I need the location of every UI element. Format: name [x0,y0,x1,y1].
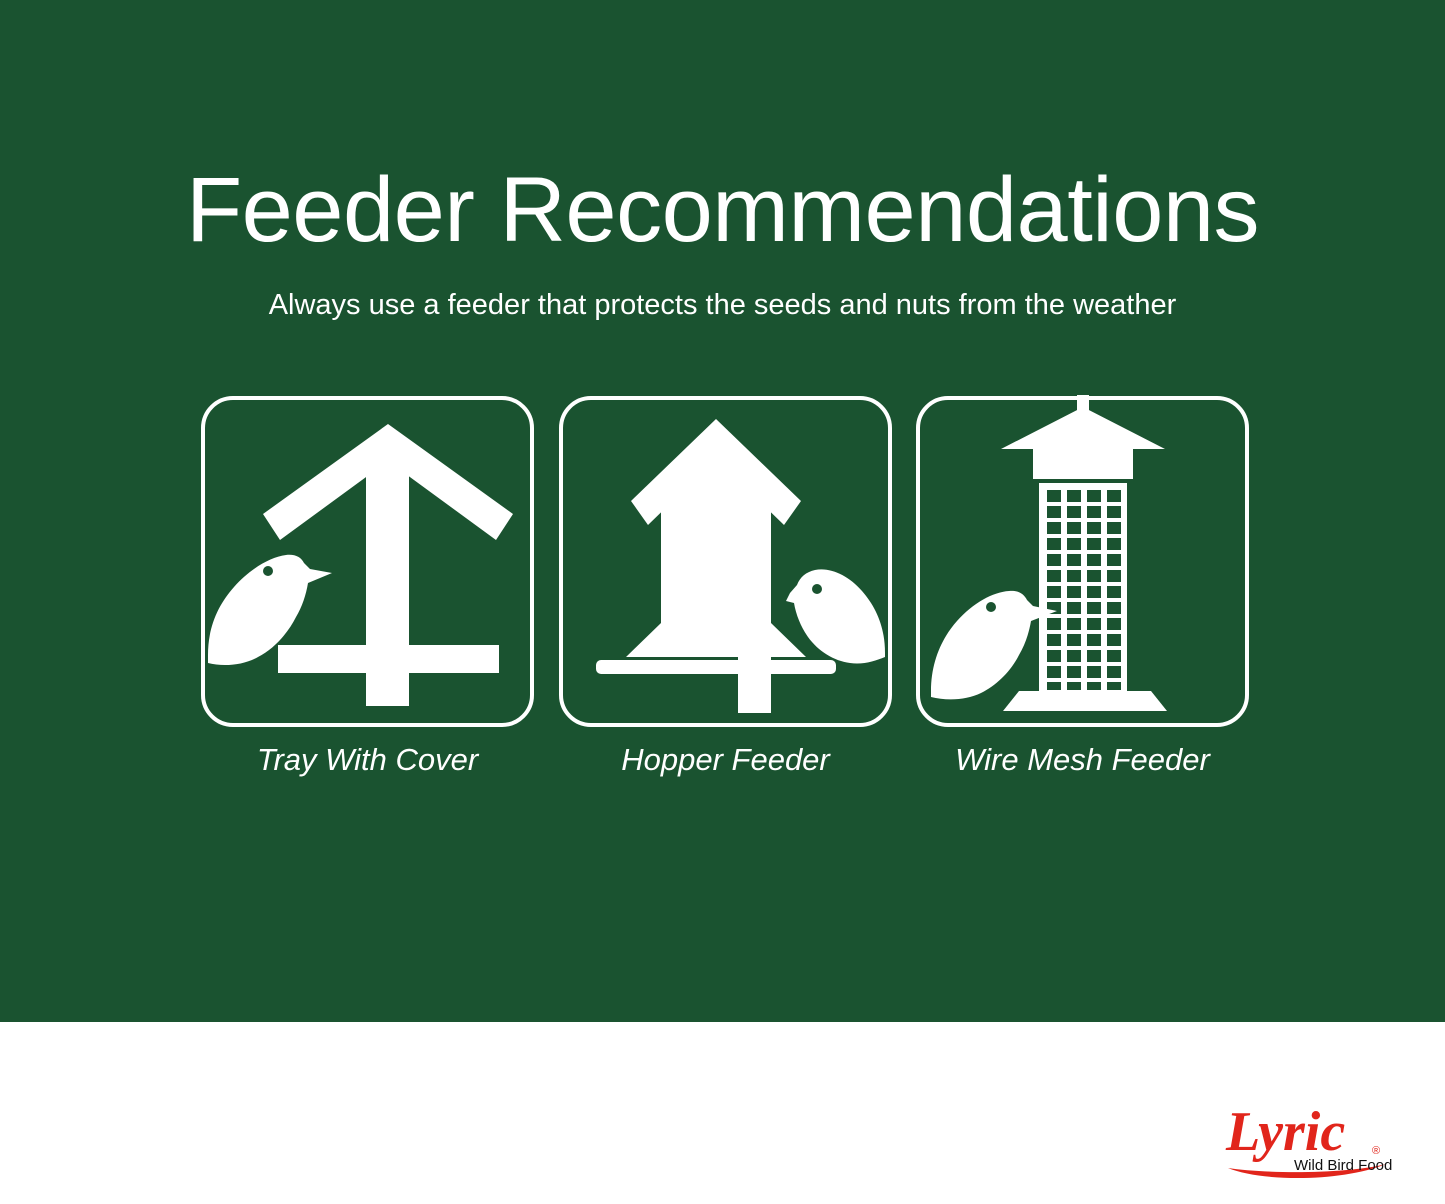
lyric-logo-trademark: ® [1372,1145,1380,1157]
feeder-label-wire-mesh-feeder: Wire Mesh Feeder [915,740,1250,780]
page-title: Feeder Recommendations [0,160,1445,260]
tray-with-cover-icon [200,395,535,728]
feeder-label-hopper-feeder: Hopper Feeder [558,740,893,780]
lyric-logo-tagline: Wild Bird Food [1294,1157,1392,1174]
wire-mesh-feeder-icon [915,395,1250,728]
lyric-logo-wordmark: Lyric [1225,1101,1345,1163]
lyric-logo: Lyric ® Wild Bird Food [1222,1098,1402,1184]
feeder-card-hopper-feeder: Hopper Feeder [558,395,893,790]
feeder-icon-row: Tray With Cover Hopper Feeder [200,395,1250,795]
feeder-label-tray-with-cover: Tray With Cover [200,740,535,780]
feeder-recommendations-page: Feeder Recommendations Always use a feed… [0,0,1445,1204]
feeder-card-tray-with-cover: Tray With Cover [200,395,535,790]
feeder-card-wire-mesh-feeder: Wire Mesh Feeder [915,395,1250,790]
page-subtitle: Always use a feeder that protects the se… [0,286,1445,324]
hopper-feeder-icon [558,395,893,728]
